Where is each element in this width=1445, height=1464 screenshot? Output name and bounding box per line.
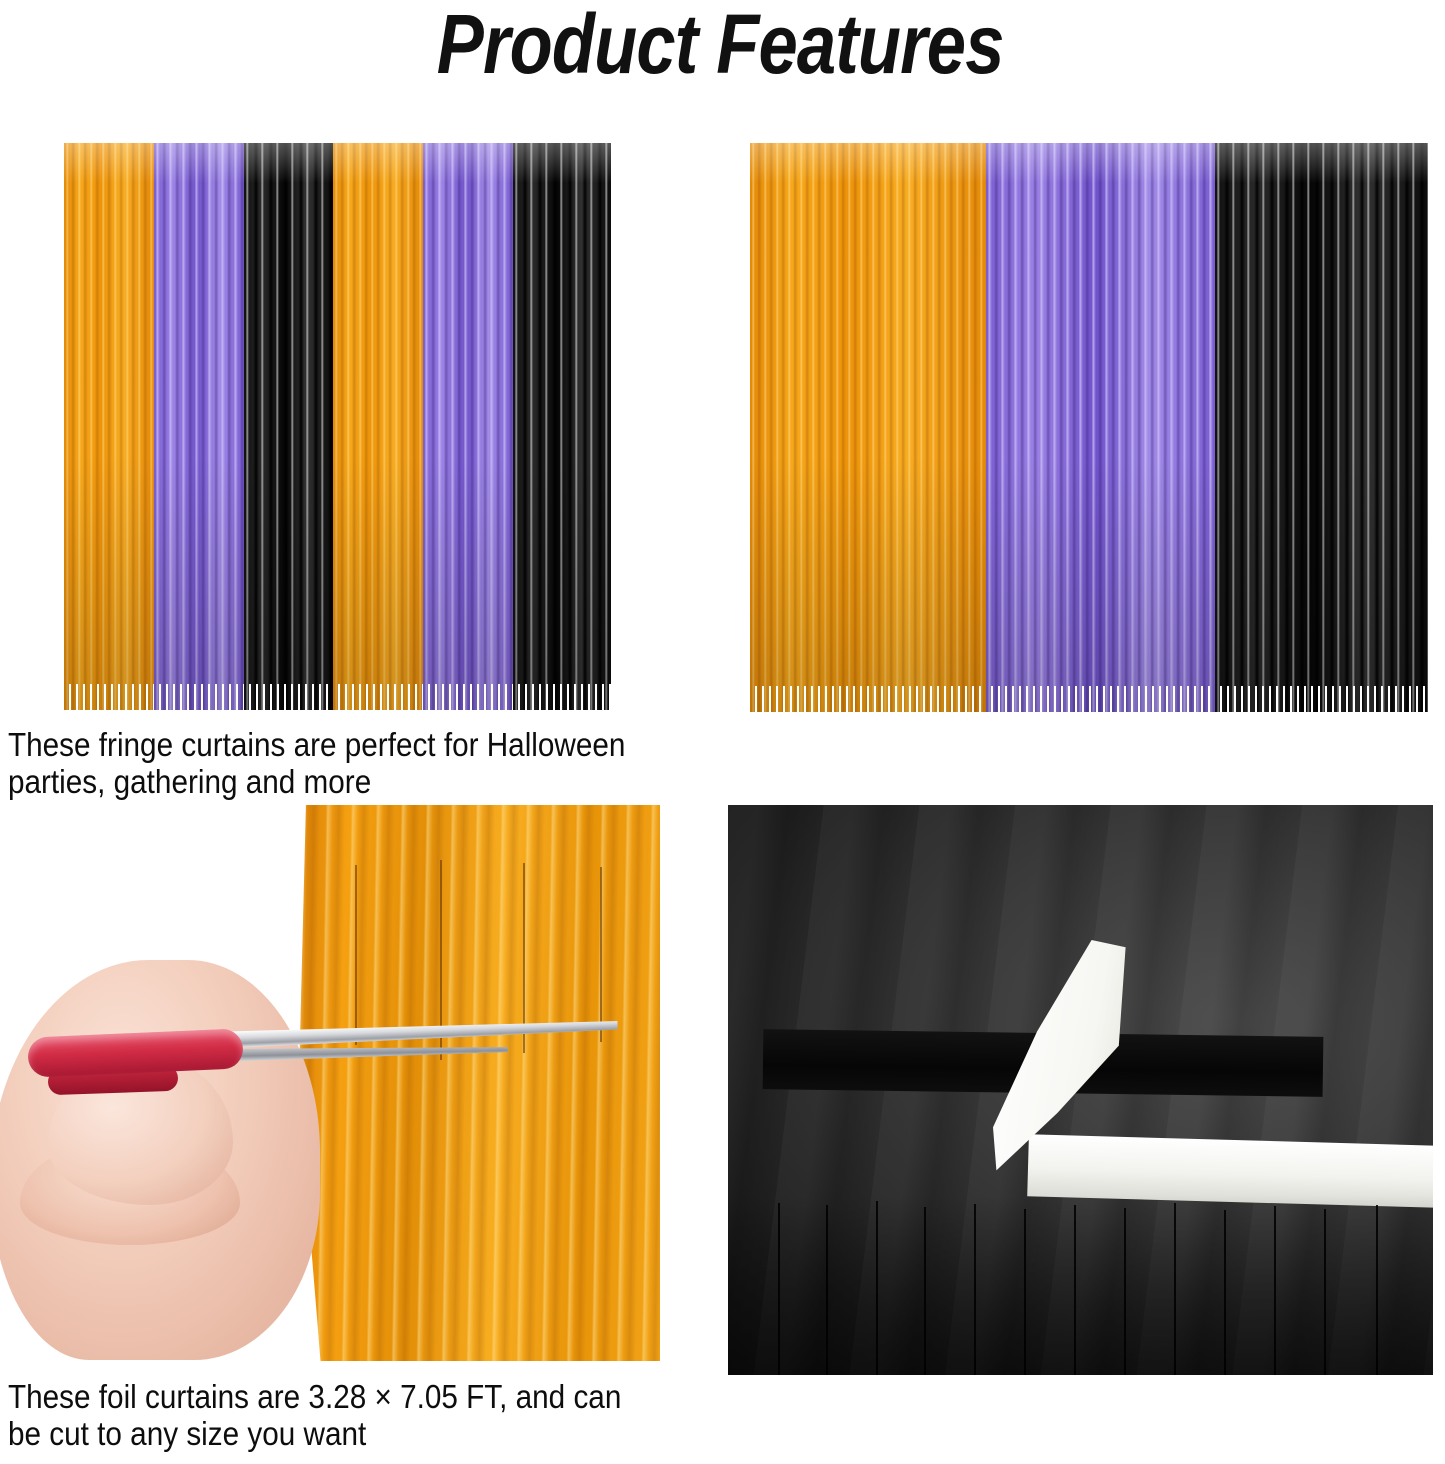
fringe-stripe-purple-2	[423, 143, 513, 710]
feature-caption-cut-to-size: These foil curtains are 3.28 × 7.05 FT, …	[8, 1378, 638, 1453]
stripe-sheen	[513, 143, 611, 183]
fringe-stripe-orange-1	[64, 143, 154, 710]
metallic-stripe-black	[1215, 143, 1428, 712]
metallic-stripe-orange	[750, 143, 986, 712]
fringe-bottom-edge	[154, 684, 244, 710]
metallic-stripe-purple	[986, 143, 1215, 712]
stripe-shadow	[750, 143, 986, 712]
stripe-sheen	[154, 143, 244, 183]
stripe-shadow	[244, 143, 333, 710]
product-photo-fringe-curtain-pair	[64, 143, 611, 710]
product-photo-double-sided-tape	[728, 805, 1433, 1375]
feature-caption-fringe-curtain-pair: These fringe curtains are perfect for Ha…	[8, 726, 656, 801]
stripe-shadow	[154, 143, 244, 710]
stripe-shadow	[64, 143, 154, 710]
stripe-sheen	[750, 143, 986, 183]
stripe-sheen	[1215, 143, 1428, 183]
fringe-stripe-purple-1	[154, 143, 244, 710]
fringe-bottom-edge	[244, 684, 333, 710]
stripe-sheen	[423, 143, 513, 183]
stripe-sheen	[986, 143, 1215, 183]
feature-cell-metallic-closeup: Metallic color finish, suitable for part…	[723, 118, 1445, 808]
stripe-shadow	[423, 143, 513, 710]
product-photo-cut-to-size	[0, 805, 660, 1365]
product-photo-metallic-closeup	[750, 143, 1428, 712]
curtain-cut-slit	[600, 867, 602, 1042]
fringe-bottom-edge	[1215, 686, 1428, 712]
fringe-bottom-edge	[750, 686, 986, 712]
stripe-shadow	[333, 143, 423, 710]
stripe-shadow	[513, 143, 611, 710]
stripe-shadow	[986, 143, 1215, 712]
feature-cell-cut-to-size: These foil curtains are 3.28 × 7.05 FT, …	[0, 800, 723, 1464]
fringe-bottom-edge	[64, 684, 154, 710]
fringe-bottom-edge	[986, 686, 1215, 712]
fringe-bottom-edge	[513, 684, 611, 710]
fringe-stripe-black-2	[513, 143, 611, 710]
fringe-bottom-edge	[333, 684, 423, 710]
curtain-bottom-shadow	[728, 1195, 1433, 1375]
curtain-cut-slit	[355, 865, 357, 1045]
fringe-stripe-black-1	[244, 143, 333, 710]
stripe-shadow	[1215, 143, 1428, 712]
fringe-stripe-orange-2	[333, 143, 423, 710]
feature-cell-double-sided-tape: Easy installation with double-sided tape…	[723, 800, 1445, 1464]
stripe-sheen	[64, 143, 154, 183]
orange-curtain	[295, 805, 660, 1361]
feature-cell-fringe-curtain-pair: These fringe curtains are perfect for Ha…	[0, 118, 723, 808]
page-title: Product Features	[113, 2, 1327, 86]
stripe-sheen	[333, 143, 423, 183]
fringe-bottom-edge	[423, 684, 513, 710]
stripe-sheen	[244, 143, 333, 183]
